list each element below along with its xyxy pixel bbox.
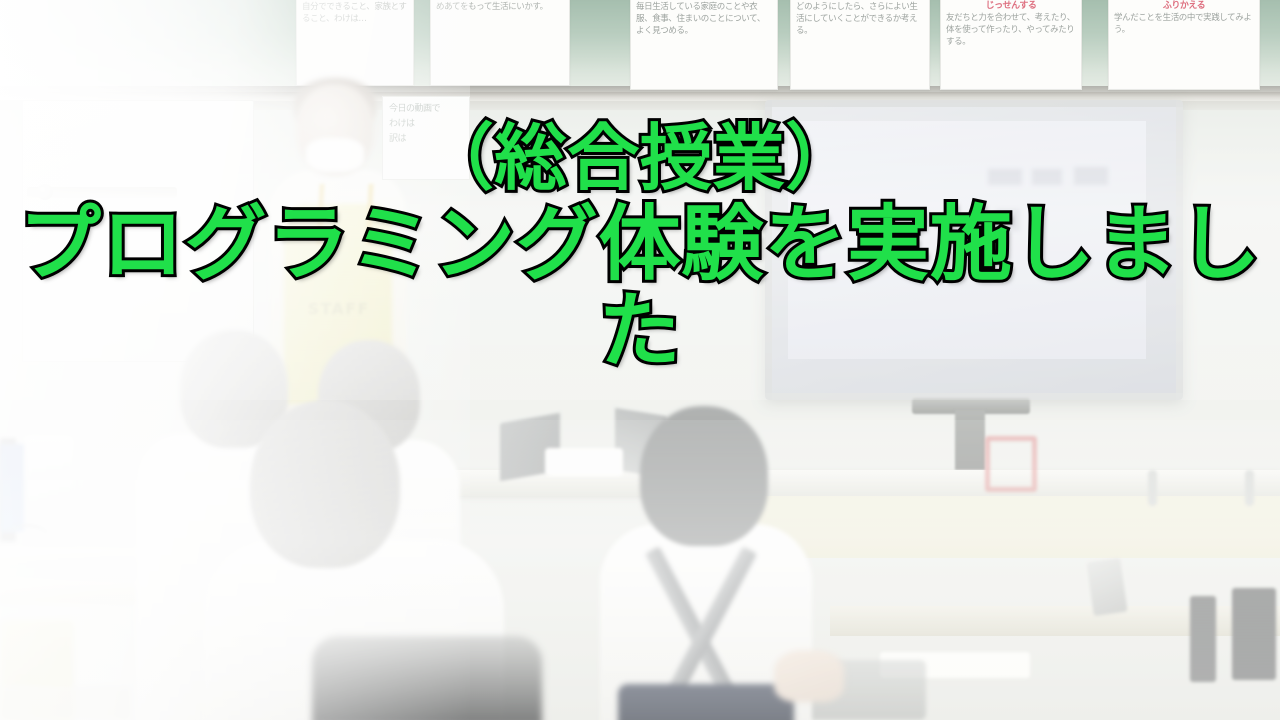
poster-3: 毎日生活している家庭のことや衣服、食事、住まいのことについて、よく見つめる。 — [630, 0, 778, 90]
teacher-lanyard — [316, 184, 373, 244]
poster-1: 自分でできること、家族とすること、わけは… — [296, 0, 414, 86]
poster-5-body: 友だちと力を合わせて、考えたり、体を使って作ったり、やってみたりする。 — [946, 12, 1076, 48]
dark-monitor-right — [1232, 588, 1276, 680]
poster-6: ふりかえる 学んだことを生活の中で実践してみよう。 — [1108, 0, 1260, 90]
student-back-center — [222, 400, 522, 720]
faucet-left — [1148, 470, 1157, 506]
video-frame: 自分でできること、家族とすること、わけは… めあてをもって生活にいかす。 毎日生… — [0, 0, 1280, 720]
chair-left — [0, 686, 130, 720]
student-back-right-girl — [592, 412, 832, 720]
red-frame-object — [985, 436, 1037, 492]
poster-4-body: どのようにしたら、さらによい生活にしていくことができるか考える。 — [796, 1, 924, 37]
teacher-vest-text: STAFF — [302, 300, 376, 318]
memo-line-1: 今日の動画で — [389, 102, 463, 117]
poster-6-heading: ふりかえる — [1114, 1, 1254, 12]
poster-3-body: 毎日生活している家庭のことや衣服、食事、住まいのことについて、よく見つめる。 — [636, 1, 772, 37]
exposure-wash-board — [0, 0, 300, 100]
student-dark-trousers — [312, 636, 542, 720]
cable — [6, 524, 48, 549]
left-desk-upper — [0, 548, 150, 564]
poster-2: めあてをもって生活にいかす。 — [430, 0, 570, 86]
whiteboard-memo: 今日の動画で わけは 訳は — [382, 96, 470, 180]
screen-block-3 — [1074, 167, 1108, 185]
poster-5-heading: じっせんする — [946, 1, 1076, 12]
classroom-photo-background: 自分でできること、家族とすること、わけは… めあてをもって生活にいかす。 毎日生… — [0, 0, 1280, 720]
face-mask — [306, 138, 364, 172]
faucet-right — [1245, 470, 1254, 506]
student-head — [250, 400, 400, 568]
tv-display — [765, 100, 1183, 400]
whiteboard-knob — [37, 184, 53, 200]
screen-block-4 — [996, 209, 1020, 231]
student-skirt — [618, 684, 794, 720]
poster-5: じっせんする 友だちと力を合わせて、考えたり、体を使って作ったり、やってみたりす… — [940, 0, 1082, 90]
screen-block-1 — [988, 169, 1022, 185]
device-grey — [1086, 558, 1127, 616]
student-arm — [774, 650, 844, 702]
memo-line-2: わけは — [389, 117, 463, 132]
whiteboard-panel — [22, 100, 254, 362]
poster-1-body: 自分でできること、家族とすること、わけは… — [302, 1, 408, 25]
tv-stand-pole — [955, 410, 985, 470]
memo-line-3: 訳は — [389, 132, 463, 147]
dark-monitor-right-2 — [1190, 596, 1216, 682]
poster-4: どのようにしたら、さらによい生活にしていくことができるか考える。 — [790, 0, 930, 90]
tv-screen-content — [788, 121, 1146, 359]
poster-6-body: 学んだことを生活の中で実践してみよう。 — [1114, 12, 1254, 36]
student-head — [640, 406, 768, 546]
screen-block-2 — [1032, 169, 1062, 185]
poster-2-body: めあてをもって生活にいかす。 — [436, 1, 564, 13]
